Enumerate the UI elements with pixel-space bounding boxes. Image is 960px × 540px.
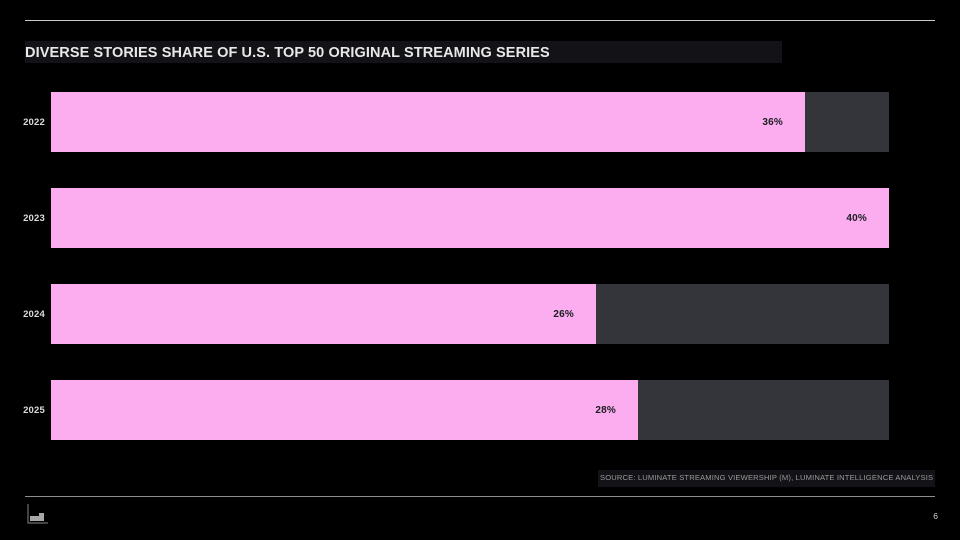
bar-track: 36%: [51, 92, 889, 152]
bar-fill: [51, 380, 638, 440]
bar-fill: [51, 284, 596, 344]
chart-row: 202340%: [0, 188, 960, 248]
slide-canvas: DIVERSE STORIES SHARE OF U.S. TOP 50 ORI…: [0, 0, 960, 540]
bottom-divider: [25, 496, 935, 497]
source-note: SOURCE: LUMINATE STREAMING VIEWERSHIP (M…: [600, 473, 933, 482]
bar-track: 28%: [51, 380, 889, 440]
bar-chart: 202236%202340%202426%202528%: [0, 85, 960, 455]
bar-value-label: 40%: [846, 188, 867, 248]
bar-value-label: 26%: [553, 284, 574, 344]
top-divider: [25, 20, 935, 21]
chart-row: 202236%: [0, 92, 960, 152]
page-title: DIVERSE STORIES SHARE OF U.S. TOP 50 ORI…: [25, 45, 825, 61]
bar-fill: [51, 92, 805, 152]
luminate-logo-icon: [26, 503, 50, 526]
category-label: 2023: [0, 188, 45, 248]
category-label: 2025: [0, 380, 45, 440]
chart-row: 202426%: [0, 284, 960, 344]
bar-track: 40%: [51, 188, 889, 248]
bar-fill: [51, 188, 889, 248]
category-label: 2022: [0, 92, 45, 152]
bar-track: 26%: [51, 284, 889, 344]
category-label: 2024: [0, 284, 45, 344]
bar-value-label: 28%: [595, 380, 616, 440]
chart-row: 202528%: [0, 380, 960, 440]
page-number: 6: [933, 511, 938, 521]
bar-value-label: 36%: [762, 92, 783, 152]
